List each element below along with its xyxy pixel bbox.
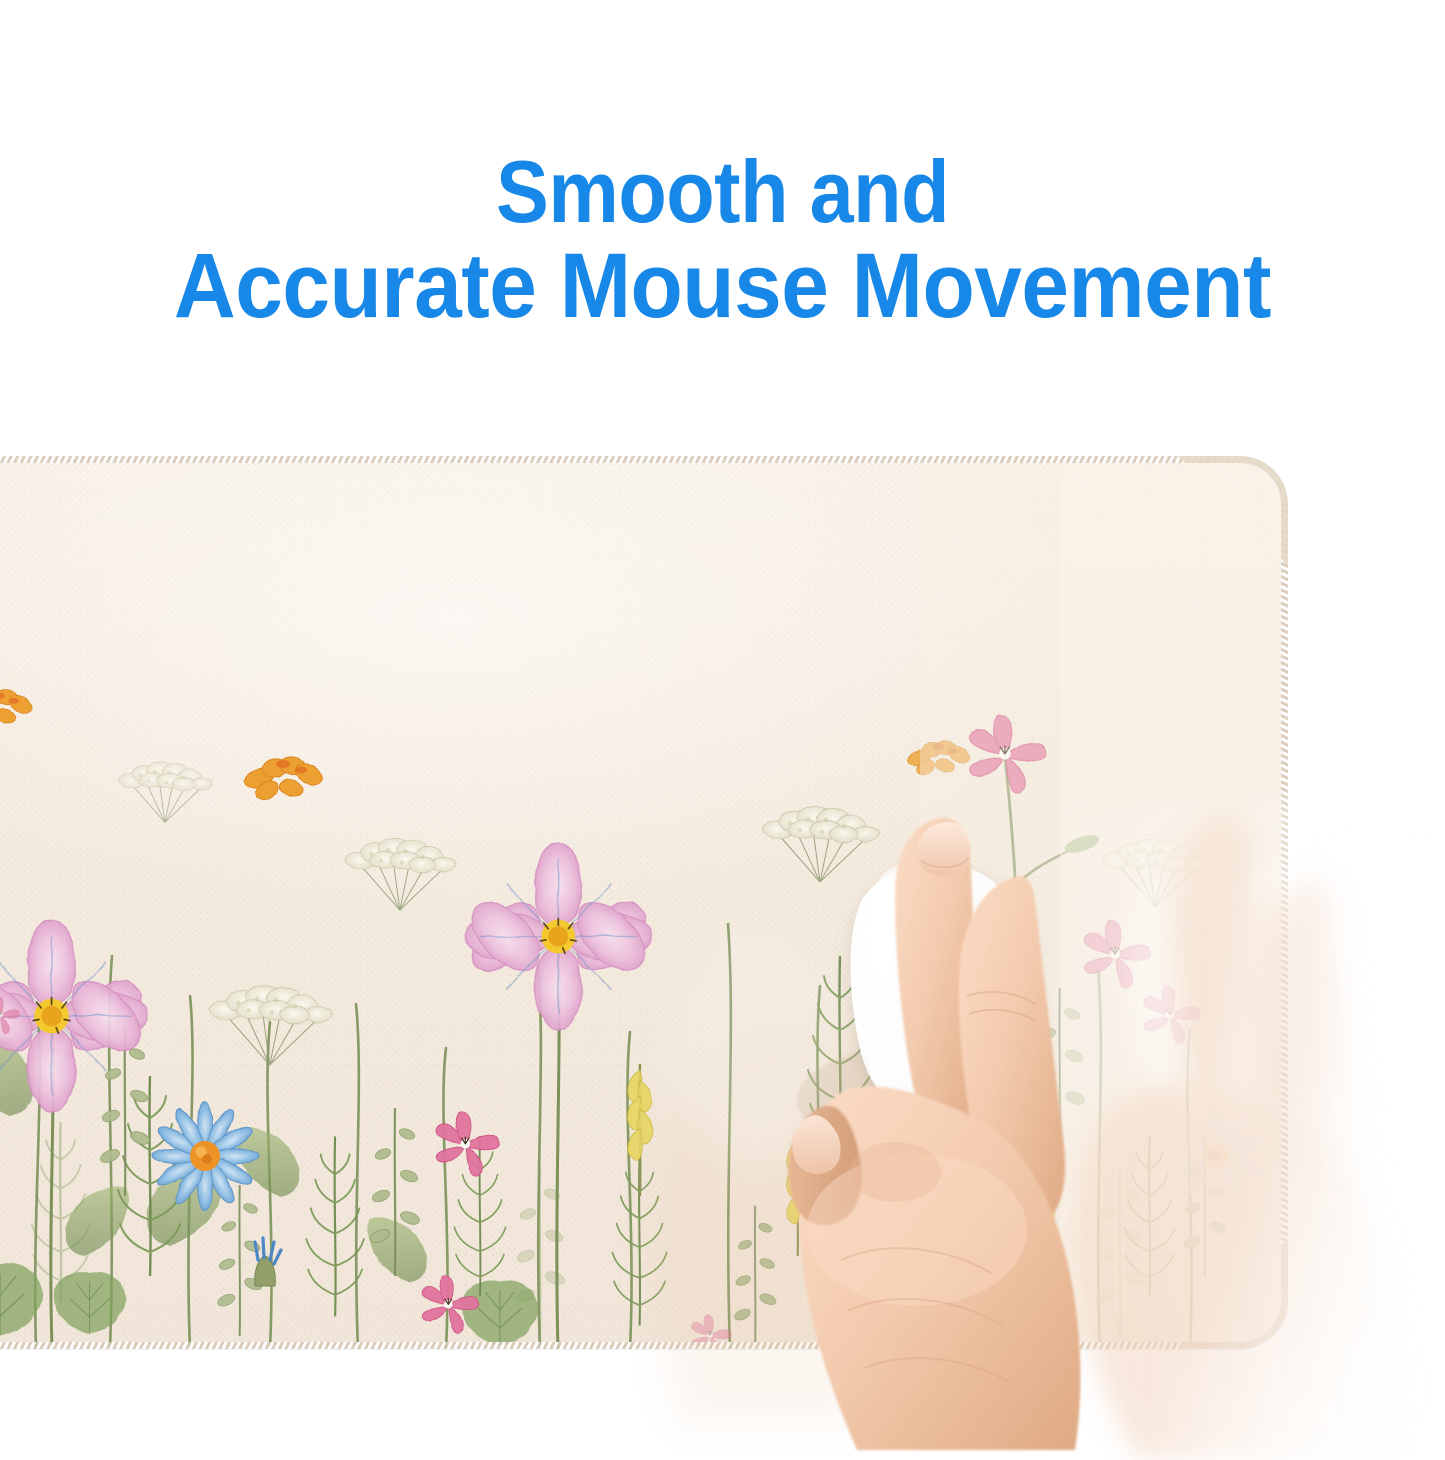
product-marketing-image: Smooth and Accurate Mouse Movement (0, 0, 1445, 1445)
headline-line-1: Smooth and (72, 148, 1373, 235)
hand-with-mouse (745, 800, 1175, 1450)
headline-block: Smooth and Accurate Mouse Movement (0, 148, 1445, 332)
headline-line-2: Accurate Mouse Movement (51, 241, 1395, 332)
image-alt-text: Hand moving a white wireless mouse acros… (0, 16, 1, 17)
